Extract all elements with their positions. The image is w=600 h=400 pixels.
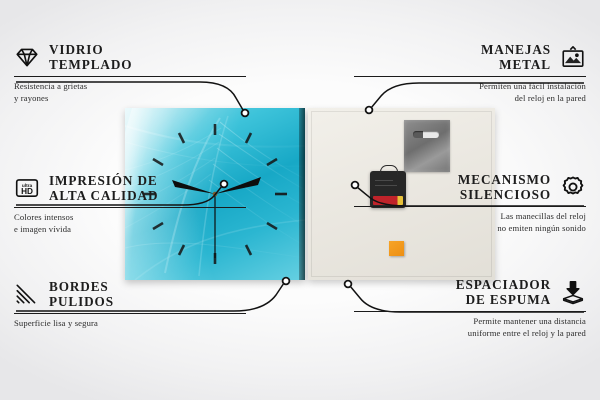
svg-text:HD: HD [21, 187, 33, 196]
infographic-stage: VIDRIO TEMPLADO Resistencia a grietas y … [0, 0, 600, 400]
polished-edges-icon [14, 281, 40, 307]
feature-subtitle: Resistencia a grietas y rayones [14, 81, 246, 105]
clock-side-edge [299, 108, 305, 280]
feature-espaciador-de-espuma[interactable]: ESPACIADOR DE ESPUMA Permite mantener un… [354, 277, 586, 340]
feature-title: ESPACIADOR DE ESPUMA [456, 277, 551, 308]
metal-hanger-part [404, 120, 450, 172]
feature-manejas-metal[interactable]: MANEJAS METAL Permiten una fácil instala… [354, 42, 586, 105]
feature-subtitle: Superficie lisa y segura [14, 318, 246, 330]
feature-heading: BORDES PULIDOS [14, 279, 246, 310]
feature-subtitle: Colores intensos e imagen vívida [14, 212, 246, 236]
feature-vidrio-templado[interactable]: VIDRIO TEMPLADO Resistencia a grietas y … [14, 42, 246, 105]
ultra-hd-icon: ultra HD [14, 175, 40, 201]
feature-heading: VIDRIO TEMPLADO [14, 42, 246, 73]
hanger-slot [413, 131, 439, 138]
feature-divider [14, 207, 246, 208]
feature-title: BORDES PULIDOS [49, 279, 114, 310]
feature-heading: ESPACIADOR DE ESPUMA [354, 277, 586, 308]
feature-divider [354, 206, 586, 207]
feature-divider [354, 76, 586, 77]
feature-divider [14, 313, 246, 314]
diamond-icon [14, 44, 40, 70]
gear-icon [560, 174, 586, 200]
feature-title: VIDRIO TEMPLADO [49, 42, 132, 73]
feature-heading: MECANISMO SILENCIOSO [354, 172, 586, 203]
feature-divider [14, 76, 246, 77]
foam-spacer-icon [560, 279, 586, 305]
foam-spacer-part [389, 241, 404, 256]
feature-divider [354, 311, 586, 312]
feature-title: MECANISMO SILENCIOSO [458, 172, 551, 203]
feature-subtitle: Las manecillas del reloj no emiten ningú… [354, 211, 586, 235]
feature-heading: MANEJAS METAL [354, 42, 586, 73]
feature-subtitle: Permite mantener una distancia uniforme … [354, 316, 586, 340]
feature-impresion-alta-calidad[interactable]: ultra HD IMPRESIÓN DE ALTA CALIDAD Color… [14, 173, 246, 236]
feature-heading: ultra HD IMPRESIÓN DE ALTA CALIDAD [14, 173, 246, 204]
feature-bordes-pulidos[interactable]: BORDES PULIDOS Superficie lisa y segura [14, 279, 246, 330]
feature-mecanismo-silencioso[interactable]: MECANISMO SILENCIOSO Las manecillas del … [354, 172, 586, 235]
feature-title: MANEJAS METAL [481, 42, 551, 73]
feature-subtitle: Permiten una fácil instalación del reloj… [354, 81, 586, 105]
picture-frame-hanger-icon [560, 44, 586, 70]
feature-title: IMPRESIÓN DE ALTA CALIDAD [49, 173, 158, 204]
